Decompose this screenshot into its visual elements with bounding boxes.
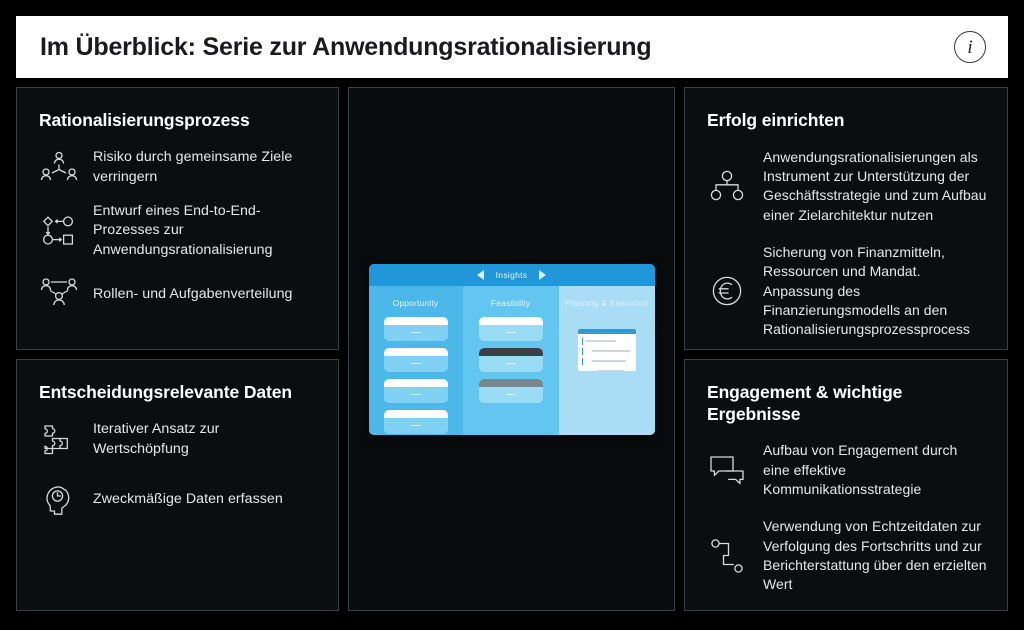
insights-board: Insights Opportunity Feasibility: [369, 264, 655, 435]
board-column-feasibility: Feasibility: [463, 286, 559, 435]
content-grid: Rationalisierungsprozess: [16, 87, 1008, 611]
chat-bubbles-icon: [707, 450, 747, 490]
list-item-text: Risiko durch gemeinsame Ziele verringern: [93, 148, 318, 187]
node-steps-icon: [707, 536, 747, 576]
board-title: Insights: [496, 270, 528, 280]
panel-illustration: Insights Opportunity Feasibility: [348, 87, 675, 611]
head-insight-icon: [39, 480, 79, 520]
slide-header: Im Überblick: Serie zur Anwendungsration…: [16, 16, 1008, 78]
board-card[interactable]: [384, 317, 448, 341]
list-item: Risiko durch gemeinsame Ziele verringern: [39, 148, 318, 188]
bullet-list: Risiko durch gemeinsame Ziele verringern: [39, 148, 318, 315]
board-card[interactable]: [479, 348, 543, 372]
board-column-opportunity: Opportunity: [369, 286, 463, 435]
board-document-card[interactable]: [578, 329, 636, 371]
prev-arrow-icon[interactable]: [477, 270, 484, 280]
list-item-text: Aufbau von Engagement durch eine effekti…: [763, 441, 987, 499]
board-card[interactable]: [384, 379, 448, 403]
board-column-planning-execution: Planning & Execution: [559, 286, 655, 435]
list-item: Verwendung von Echtzeitdaten zur Verfolg…: [707, 517, 987, 594]
panel-title: Entscheidungsrelevante Daten: [39, 382, 318, 404]
bullet-list: Aufbau von Engagement durch eine effekti…: [707, 441, 987, 611]
board-card[interactable]: [479, 317, 543, 341]
roles-team-icon: [39, 274, 79, 314]
document-body: [578, 334, 636, 371]
panel-erfolg-einrichten: Erfolg einrichten Anwendungsrationalisie…: [684, 87, 1008, 350]
panel-title: Engagement & wichtige Ergebnisse: [707, 382, 987, 425]
euro-currency-icon: [707, 271, 747, 311]
bullet-list: Anwendungsrationalisierungen als Instrum…: [707, 148, 987, 350]
slide-root: Im Überblick: Serie zur Anwendungsration…: [0, 0, 1024, 630]
board-card[interactable]: [384, 348, 448, 372]
column-header: Opportunity: [393, 298, 439, 308]
column-header: Planning & Execution: [565, 298, 649, 308]
column-header: Feasibility: [491, 298, 530, 308]
list-item-text: Zweckmäßige Daten erfassen: [93, 490, 283, 510]
list-item: Iterativer Ansatz zur Wertschöpfung: [39, 420, 318, 460]
process-flow-icon: [39, 211, 79, 251]
info-icon-glyph: i: [967, 38, 972, 57]
puzzle-pieces-icon: [39, 420, 79, 460]
panel-entscheidungsrelevante-daten: Entscheidungsrelevante Daten Iterativer …: [16, 359, 339, 611]
list-item: Entwurf eines End-to-End-Prozesses zur A…: [39, 202, 318, 261]
list-item-text: Rollen- und Aufgabenverteilung: [93, 285, 292, 305]
list-item: Sicherung von Finanzmitteln, Ressourcen …: [707, 243, 987, 340]
board-toolbar: Insights: [369, 264, 655, 286]
bullet-list: Iterativer Ansatz zur Wertschöpfung Zwec…: [39, 420, 318, 540]
panel-title: Erfolg einrichten: [707, 110, 987, 132]
board-card[interactable]: [479, 379, 543, 403]
board-card[interactable]: [384, 410, 448, 434]
list-item-text: Sicherung von Finanzmitteln, Ressourcen …: [763, 243, 987, 340]
list-item: Aufbau von Engagement durch eine effekti…: [707, 441, 987, 499]
list-item-text: Anwendungsrationalisierungen als Instrum…: [763, 148, 987, 225]
panel-engagement-ergebnisse: Engagement & wichtige Ergebnisse Aufbau …: [684, 359, 1008, 611]
list-item-text: Verwendung von Echtzeitdaten zur Verfolg…: [763, 517, 987, 594]
list-item: Anwendungsrationalisierungen als Instrum…: [707, 148, 987, 225]
panel-title: Rationalisierungsprozess: [39, 110, 318, 132]
hierarchy-tree-icon: [707, 166, 747, 206]
board-columns: Opportunity Feasibility Planning & Exec: [369, 286, 655, 435]
panel-rationalisierungsprozess: Rationalisierungsprozess: [16, 87, 339, 350]
list-item: Rollen- und Aufgabenverteilung: [39, 274, 318, 314]
info-icon[interactable]: i: [954, 31, 986, 63]
list-item-text: Iterativer Ansatz zur Wertschöpfung: [93, 420, 318, 459]
page-title: Im Überblick: Serie zur Anwendungsration…: [40, 33, 651, 62]
people-network-icon: [39, 148, 79, 188]
list-item: Zweckmäßige Daten erfassen: [39, 480, 318, 520]
list-item-text: Entwurf eines End-to-End-Prozesses zur A…: [93, 202, 318, 261]
next-arrow-icon[interactable]: [539, 270, 546, 280]
